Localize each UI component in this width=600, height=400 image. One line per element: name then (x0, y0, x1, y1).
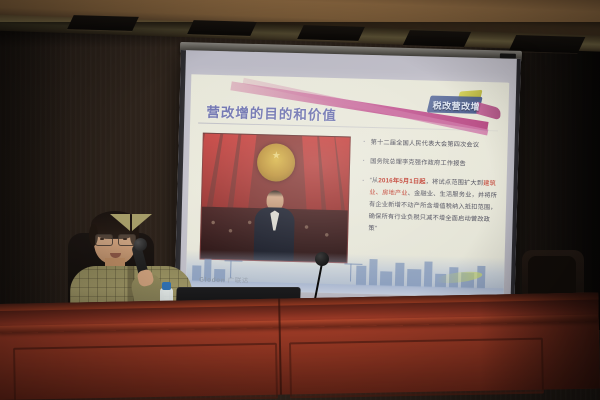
desk-panel-left (13, 343, 278, 400)
desk-right-shadow (478, 292, 600, 390)
quote-highlight-date: 2016年5月1日起 (378, 177, 426, 185)
glodon-wordmark-cn: 广联达 (228, 277, 249, 285)
ceiling-vent (67, 15, 139, 31)
presentation-photo-scene: 营改增的目的和价值 税改营改增 ★ (0, 0, 600, 400)
slide-title: 营改增的目的和价值 (206, 101, 337, 124)
bullet-item: 第十二届全国人民代表大会第四次会议 (362, 137, 500, 152)
ceiling-vent (297, 25, 365, 41)
crane-icon (350, 264, 351, 282)
skyline-building (369, 259, 378, 286)
wall-left-shadow (0, 0, 70, 340)
slide-footer-logo: Glodon 广联达 (199, 274, 249, 285)
bullet-item-quote: “从2016年5月1日起，将试点范围扩大到建筑业、房地产业、金融业、生活服务业，… (359, 175, 499, 239)
presenter-eye-right (123, 238, 127, 240)
slide-bullet-list: 第十二届全国人民代表大会第四次会议 国务院总理李克强作政府工作报告 “从2016… (359, 137, 500, 247)
ceiling-vent (403, 30, 471, 47)
quote-mid: ，将试点范围扩大到 (426, 178, 484, 187)
skyline-building (407, 269, 421, 287)
bullet-item: 国务院总理李克强作政府工作报告 (361, 156, 499, 171)
glasses-lens-left (95, 234, 113, 246)
slide-content: 营改增的目的和价值 税改营改增 ★ (186, 74, 510, 297)
skyline-building (424, 261, 433, 287)
shirt-collar-right (132, 214, 152, 231)
red-flag (302, 133, 322, 211)
ceiling-vent (187, 20, 257, 36)
wooden-desk-front (0, 292, 600, 400)
bottle-cap (162, 282, 171, 290)
skyline-building (395, 263, 405, 287)
boom-microphone-head-icon (315, 252, 329, 266)
glodon-wordmark: Glodon (199, 277, 226, 285)
green-swoosh-graphic (436, 270, 482, 285)
emblem-star: ★ (272, 151, 281, 161)
logo-text: 税改营改增 (432, 99, 480, 113)
quote-lead: “从 (370, 177, 379, 184)
slide-corner-logo: 税改营改增 (424, 87, 503, 119)
skyline-building (380, 271, 392, 286)
glasses-bridge (111, 238, 118, 239)
presenter-eye-left (100, 238, 104, 240)
slide-photo-great-hall: ★ (200, 133, 351, 264)
national-emblem-icon: ★ (257, 143, 296, 182)
skyline-building (356, 266, 367, 286)
